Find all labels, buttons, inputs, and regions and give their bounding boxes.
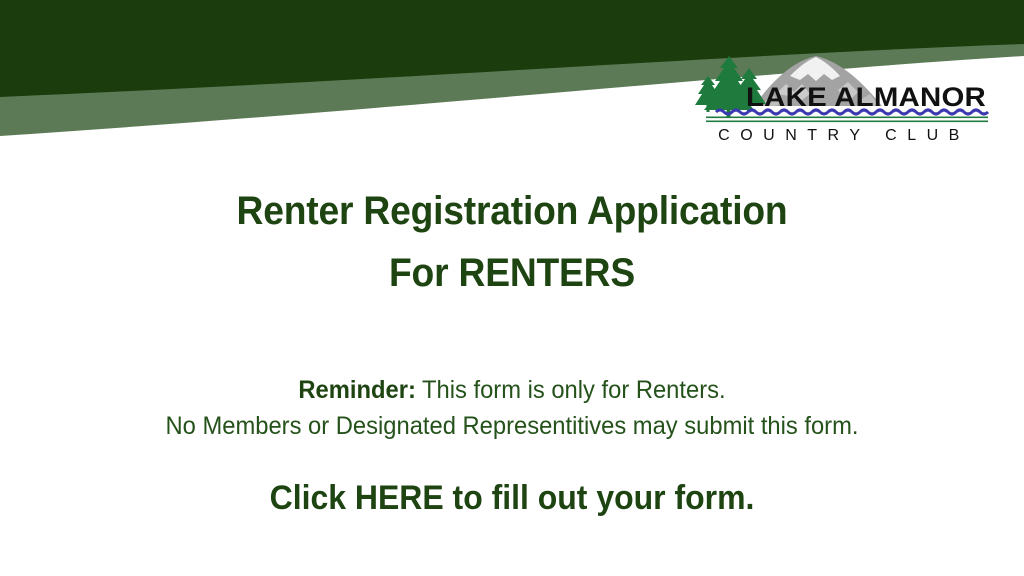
cta-link[interactable]: Click HERE to fill out your form. [31, 476, 994, 520]
brand-logo: LAKE ALMANOR COUNTRY CLUB [694, 54, 994, 146]
logo-rule-bottom [706, 121, 988, 123]
main-content: Renter Registration Application For RENT… [0, 160, 1024, 520]
page-subtitle: For RENTERS [36, 242, 988, 304]
reminder-label: Reminder: [298, 376, 415, 404]
logo-subtitle-text: COUNTRY CLUB [718, 127, 970, 144]
logo-name-text: LAKE ALMANOR [746, 82, 986, 112]
reminder-block: Reminder: This form is only for Renters.… [26, 372, 999, 444]
page-title: Renter Registration Application [36, 160, 988, 242]
reminder-line-one: Reminder: This form is only for Renters. [26, 372, 999, 408]
reminder-text: This form is only for Renters. [416, 376, 726, 404]
reminder-line-two: No Members or Designated Representitives… [26, 408, 999, 444]
logo-rule-top [706, 117, 988, 119]
